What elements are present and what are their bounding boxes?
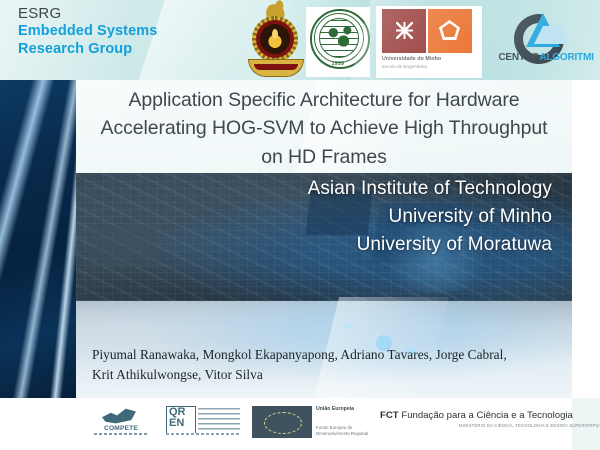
centro-algoritmi-text-b: ALGORITMI: [539, 52, 593, 63]
page-title: Application Specific Architecture for Ha…: [88, 86, 560, 171]
qren-text-lines: [198, 408, 240, 430]
esrg-acronym: ESRG: [18, 5, 157, 23]
bokeh-dot-3: [344, 323, 351, 330]
minho-pentagon-icon: [439, 20, 460, 40]
author-line-2: Krit Athikulwongse, Vitor Silva: [92, 365, 562, 385]
asian-institute-of-technology-seal-icon: 1959: [306, 7, 370, 77]
organization-item-1: Asian Institute of Technology: [76, 175, 552, 203]
slide-footer: COMPETE QR EN União Europeia Fundo Europ…: [0, 398, 600, 450]
fct-title-row: FCT Fundação para a Ciência e a Tecnolog…: [380, 410, 600, 421]
funding-logos: COMPETE QR EN União Europeia Fundo Europ…: [90, 404, 510, 444]
author-line-1: Piyumal Ranawaka, Mongkol Ekapanyapong, …: [92, 345, 562, 365]
partner-logos: 1959 Universidade do Minho Escola de Eng…: [240, 2, 600, 80]
qren-logo-icon: QR EN: [166, 406, 240, 440]
centro-algoritmi-mark-icon: [514, 12, 560, 50]
centro-algoritmi-wordmark: CENTROALGORITMI: [490, 52, 600, 63]
compete-logo-icon: COMPETE: [90, 408, 152, 438]
eu-logo-caption: União Europeia Fundo Europeu de Desenvol…: [316, 406, 372, 412]
minho-caption-secondary: Escola de Engenharia: [382, 64, 427, 69]
algoritmi-c-shape: [504, 4, 574, 74]
minho-caption-primary: Universidade do Minho: [382, 56, 441, 62]
ait-globe-icon: [319, 18, 359, 58]
organization-list: Asian Institute of Technology University…: [76, 175, 552, 259]
university-of-moratuwa-crest-icon: [246, 4, 304, 78]
esrg-line-3: Research Group: [18, 41, 157, 59]
algoritmi-a-triangle: [526, 13, 560, 47]
slide-header: ESRG Embedded Systems Research Group 195…: [0, 0, 600, 80]
organization-item-3: University of Moratuwa: [76, 231, 552, 259]
eu-caption-title: União Europeia: [316, 406, 372, 412]
centro-algoritmi-text-a: CENTRO: [498, 52, 539, 63]
title-area: Application Specific Architecture for Ha…: [76, 80, 572, 173]
compete-bird-icon: [102, 408, 136, 424]
slide-content-panel: Application Specific Architecture for Ha…: [76, 80, 572, 398]
fct-ministry: MINISTÉRIO DA CIÊNCIA, TECNOLOGIA E ENSI…: [459, 423, 593, 428]
esrg-line-2: Embedded Systems: [18, 23, 157, 41]
compete-underline: [94, 433, 148, 435]
crest-lamp-flame-icon: [272, 29, 278, 39]
european-union-flag-icon: [252, 406, 312, 438]
ait-year: 1959: [306, 61, 370, 67]
fct-acronym: FCT: [380, 410, 399, 421]
qren-underline: [166, 433, 240, 435]
left-decorative-strip: [0, 80, 76, 398]
minho-orange-square: [428, 9, 472, 53]
eu-caption-subtitle: Fundo Europeu de Desenvolvimento Regiona…: [316, 425, 372, 437]
minho-star-icon: [396, 22, 413, 39]
author-list: Piyumal Ranawaka, Mongkol Ekapanyapong, …: [92, 345, 562, 385]
organization-item-2: University of Minho: [76, 203, 552, 231]
minho-red-square: [382, 9, 426, 53]
fct-title: Fundação para a Ciência e a Tecnologia: [401, 410, 573, 421]
crest-ribbon: [248, 59, 304, 77]
centro-algoritmi-logo-icon: CENTROALGORITMI: [490, 12, 600, 74]
fct-logo-icon: FCT Fundação para a Ciência e a Tecnolog…: [380, 410, 600, 428]
presentation-slide: ESRG Embedded Systems Research Group 195…: [0, 0, 600, 450]
compete-label: COMPETE: [90, 425, 152, 432]
eu-stars-circle: [264, 412, 302, 434]
universidade-do-minho-logo-icon: Universidade do Minho Escola de Engenhar…: [376, 6, 482, 78]
fct-country: Portugal: [593, 423, 600, 428]
esrg-logo-text: ESRG Embedded Systems Research Group: [18, 5, 157, 59]
qren-letters-bottom: EN: [169, 418, 184, 429]
